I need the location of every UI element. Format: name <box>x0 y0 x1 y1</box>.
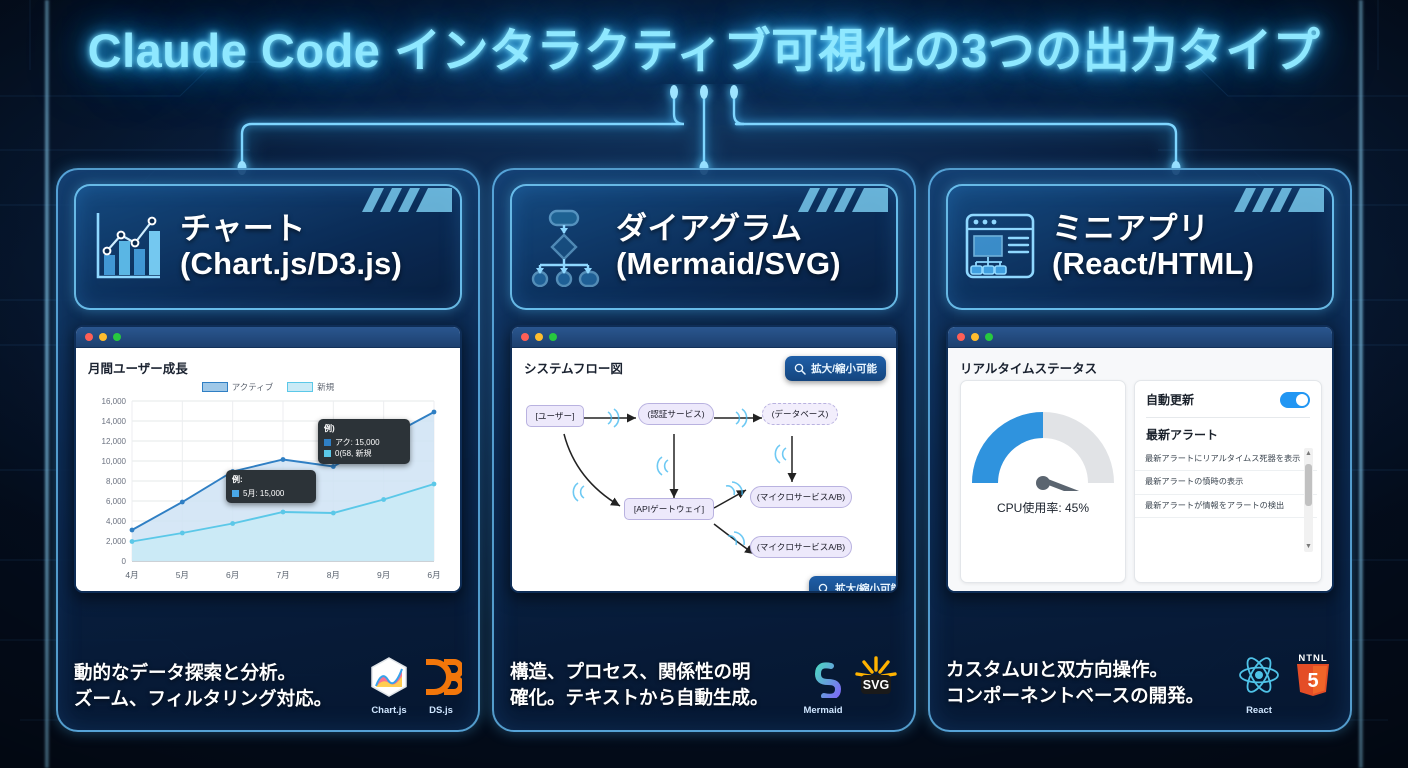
card-diagram-caption-line2: 確化。テキストから自動生成。 <box>510 685 768 711</box>
react-logo <box>1236 656 1282 698</box>
card-diagram-caption: 構造、プロセス、関係性の明 確化。テキストから自動生成。 <box>510 659 768 712</box>
legend-item-active[interactable]: アクティブ <box>202 381 274 393</box>
card-chart-caption-line1: 動的なデータ探索と分析。 <box>74 660 332 686</box>
chart-tooltip-1: 例: 5月: 15,000 <box>226 470 316 503</box>
svg-text:5月: 5月 <box>176 570 189 580</box>
card-diagram[interactable]: ダイアグラム (Mermaid/SVG) システムフロー図 拡大/縮小可能 <box>492 168 916 732</box>
browser-window-icon <box>962 207 1038 287</box>
tooltip-1-key-icon <box>232 490 239 497</box>
tooltip-2-row-1-text: アク: 15,000 <box>335 437 380 449</box>
tooltip-1-row-1-text: 5月: 15,000 <box>243 488 284 500</box>
card-diagram-caption-line1: 構造、プロセス、関係性の明 <box>510 659 768 685</box>
tooltip-2-key2-icon <box>324 450 331 457</box>
tooltip-2-row-2: 0(58, 新規 <box>324 448 404 460</box>
chart-legend: アクティブ 新規 <box>88 381 448 393</box>
svg-text:9月: 9月 <box>377 570 390 580</box>
bar-line-chart-icon <box>90 207 166 287</box>
react-logo-label: React <box>1236 705 1282 716</box>
maximize-dot-icon[interactable] <box>985 333 993 341</box>
svg-logo-wrap: SVG SVG <box>854 654 898 716</box>
alerts-scroll-thumb[interactable] <box>1305 464 1312 506</box>
card-chart-header: チャート (Chart.js/D3.js) <box>74 184 462 310</box>
list-item[interactable]: 最新アラートが情報をアラートの検出 <box>1135 495 1317 518</box>
legend-label-new: 新規 <box>317 381 334 393</box>
maximize-dot-icon[interactable] <box>113 333 121 341</box>
diagram-node-auth[interactable]: (認証サービス) <box>638 403 714 425</box>
minimize-dot-icon[interactable] <box>535 333 543 341</box>
tooltip-2-title: 例) <box>324 423 404 435</box>
card-diagram-logos: Mermaid SVG SVG <box>802 654 898 716</box>
miniapp-window-body: リアルタイムステータス CPU使用率: 45% 自動更新 <box>948 348 1332 591</box>
close-dot-icon[interactable] <box>521 333 529 341</box>
card-chart-caption-line2: ズーム、フィルタリング対応。 <box>74 686 332 712</box>
legend-swatch-new <box>287 382 313 392</box>
html5-logo-wrap: NTNL 5 HTML <box>1292 650 1334 716</box>
diagram-node-gateway[interactable]: [APIゲートウェイ] <box>624 498 714 520</box>
svg-text:2,000: 2,000 <box>106 537 127 546</box>
tooltip-1-row-1: 5月: 15,000 <box>232 488 310 500</box>
card-chart-caption: 動的なデータ探索と分析。 ズーム、フィルタリング対応。 <box>74 660 332 713</box>
close-dot-icon[interactable] <box>85 333 93 341</box>
list-item[interactable]: 最新アラートにリアルタイムス死器を表示 <box>1135 448 1317 471</box>
diagram-node-microservice-a[interactable]: (マイクロサービスA/B) <box>750 486 852 508</box>
zoom-badge-top[interactable]: 拡大/縮小可能 <box>785 356 886 381</box>
card-chart-logos: Chart.js DS.js <box>368 656 462 716</box>
maximize-dot-icon[interactable] <box>549 333 557 341</box>
card-miniapp-caption-row: カスタムUIと双方向操作。 コンポーネントベースの開発。 React <box>946 650 1334 716</box>
miniapp-title: リアルタイムステータス <box>960 358 1320 377</box>
svg-text:14,000: 14,000 <box>102 417 127 426</box>
svg-text:8月: 8月 <box>327 570 340 580</box>
cpu-gauge-panel: CPU使用率: 45% <box>960 380 1126 583</box>
magnifier-icon <box>818 583 830 594</box>
chartjs-logo <box>368 656 410 698</box>
chart-tooltip-2: 例) アク: 15,000 0(58, 新規 <box>318 419 410 464</box>
chart-window[interactable]: 月間ユーザー成長 アクティブ 新規 02,0004,0006,0008,0001… <box>74 325 462 593</box>
miniapp-window[interactable]: リアルタイムステータス CPU使用率: 45% 自動更新 <box>946 325 1334 593</box>
card-diagram-header-text: ダイアグラム (Mermaid/SVG) <box>616 212 841 281</box>
legend-item-new[interactable]: 新規 <box>287 381 334 393</box>
card-diagram-header: ダイアグラム (Mermaid/SVG) <box>510 184 898 310</box>
html5-logo: NTNL 5 <box>1292 650 1334 698</box>
svg-text:4,000: 4,000 <box>106 517 127 526</box>
mermaid-logo <box>802 656 844 698</box>
svg-logo: SVG <box>854 654 898 698</box>
svg-text:16,000: 16,000 <box>102 397 127 406</box>
card-diagram-caption-row: 構造、プロセス、関係性の明 確化。テキストから自動生成。 Mermaid <box>510 654 898 716</box>
svg-text:12,000: 12,000 <box>102 437 127 446</box>
svg-text:NTNL: NTNL <box>1298 653 1327 664</box>
scroll-up-arrow-icon[interactable]: ▲ <box>1305 450 1312 457</box>
status-controls-panel: 自動更新 最新アラート 最新アラートにリアルタイムス死器を表示 最新アラートの憤… <box>1134 380 1322 583</box>
header-stripes-decor <box>362 188 454 214</box>
d3js-logo-label: DS.js <box>420 705 462 716</box>
d3js-logo <box>420 656 462 698</box>
page-title: Claude Code インタラクティブ可視化の3つの出力タイプ <box>0 12 1408 81</box>
mermaid-logo-wrap: Mermaid <box>802 656 844 716</box>
chart-window-titlebar <box>76 327 460 348</box>
card-miniapp-title-line1: ミニアプリ <box>1052 212 1254 247</box>
svg-text:6月: 6月 <box>427 570 440 580</box>
chartjs-logo-label: Chart.js <box>368 705 410 716</box>
alerts-list[interactable]: 最新アラートにリアルタイムス死器を表示 最新アラートの憤時の表示 最新アラートが… <box>1135 448 1317 552</box>
svg-text:6月: 6月 <box>226 570 239 580</box>
card-miniapp-header-text: ミニアプリ (React/HTML) <box>1052 212 1254 281</box>
auto-refresh-toggle[interactable] <box>1280 392 1310 408</box>
close-dot-icon[interactable] <box>957 333 965 341</box>
alerts-heading: 最新アラート <box>1135 418 1321 448</box>
header-stripes-decor <box>798 188 890 214</box>
minimize-dot-icon[interactable] <box>99 333 107 341</box>
auto-refresh-label: 自動更新 <box>1146 391 1194 408</box>
zoom-badge-top-label: 拡大/縮小可能 <box>811 361 877 376</box>
zoom-badge-bottom-label: 拡大/縮小可能 <box>835 581 898 593</box>
card-chart-header-text: チャート (Chart.js/D3.js) <box>180 212 402 281</box>
legend-label-active: アクティブ <box>232 381 274 393</box>
svg-text:SVG: SVG <box>863 678 889 692</box>
chart-title: 月間ユーザー成長 <box>88 358 448 377</box>
zoom-badge-bottom[interactable]: 拡大/縮小可能 <box>809 576 898 593</box>
list-item[interactable]: 最新アラートの憤時の表示 <box>1135 471 1317 494</box>
diagram-window[interactable]: システムフロー図 拡大/縮小可能 <box>510 325 898 593</box>
card-diagram-title-line1: ダイアグラム <box>616 212 841 247</box>
diagram-window-body: システムフロー図 拡大/縮小可能 <box>512 348 896 591</box>
tooltip-2-row-1: アク: 15,000 <box>324 437 404 449</box>
card-miniapp[interactable]: ミニアプリ (React/HTML) リアルタイムステータス <box>928 168 1352 732</box>
card-chart-title-line1: チャート <box>180 212 402 247</box>
svg-text:4月: 4月 <box>125 570 138 580</box>
tooltip-2-key1-icon <box>324 439 331 446</box>
svg-text:5: 5 <box>1307 670 1318 692</box>
minimize-dot-icon[interactable] <box>971 333 979 341</box>
card-miniapp-header: ミニアプリ (React/HTML) <box>946 184 1334 310</box>
legend-swatch-active <box>202 382 228 392</box>
scroll-down-arrow-icon[interactable]: ▼ <box>1305 543 1312 550</box>
card-chart[interactable]: チャート (Chart.js/D3.js) 月間ユーザー成長 アクティブ <box>56 168 480 732</box>
header-stripes-decor <box>1234 188 1326 214</box>
alerts-scrollbar[interactable]: ▲ ▼ <box>1304 448 1313 552</box>
card-miniapp-caption: カスタムUIと双方向操作。 コンポーネントベースの開発。 <box>946 657 1204 710</box>
miniapp-window-titlebar <box>948 327 1332 348</box>
flowchart-tree-icon <box>526 207 602 287</box>
card-chart-title-line2: (Chart.js/D3.js) <box>180 247 402 282</box>
diagram-node-microservice-b[interactable]: (マイクロサービスA/B) <box>750 536 852 558</box>
cpu-gauge-icon <box>968 399 1118 491</box>
diagram-window-titlebar <box>512 327 896 348</box>
svg-text:7月: 7月 <box>276 570 289 580</box>
tooltip-2-row-2-text: 0(58, 新規 <box>335 448 371 460</box>
card-diagram-title-line2: (Mermaid/SVG) <box>616 247 841 282</box>
cpu-gauge-label: CPU使用率: 45% <box>961 499 1125 516</box>
svg-text:6,000: 6,000 <box>106 497 127 506</box>
card-miniapp-caption-line2: コンポーネントベースの開発。 <box>946 683 1204 709</box>
magnifier-icon <box>794 363 806 375</box>
card-miniapp-logos: React NTNL 5 HTML <box>1236 650 1334 716</box>
tooltip-1-title: 例: <box>232 474 310 486</box>
svg-text:8,000: 8,000 <box>106 477 127 486</box>
chartjs-logo-wrap: Chart.js <box>368 656 410 716</box>
mermaid-logo-label: Mermaid <box>802 705 844 716</box>
d3js-logo-wrap: DS.js <box>420 656 462 716</box>
card-miniapp-caption-line1: カスタムUIと双方向操作。 <box>946 657 1204 683</box>
react-logo-wrap: React <box>1236 656 1282 716</box>
svg-text:10,000: 10,000 <box>102 457 127 466</box>
diagram-node-user[interactable]: [ユーザー] <box>526 405 584 427</box>
auto-refresh-row[interactable]: 自動更新 <box>1135 381 1321 417</box>
chart-window-body: 月間ユーザー成長 アクティブ 新規 02,0004,0006,0008,0001… <box>76 348 460 593</box>
card-chart-caption-row: 動的なデータ探索と分析。 ズーム、フィルタリング対応。 Chart.js <box>74 656 462 716</box>
diagram-node-database[interactable]: (データベース) <box>762 403 838 425</box>
svg-text:0: 0 <box>122 557 127 566</box>
card-miniapp-title-line2: (React/HTML) <box>1052 247 1254 282</box>
